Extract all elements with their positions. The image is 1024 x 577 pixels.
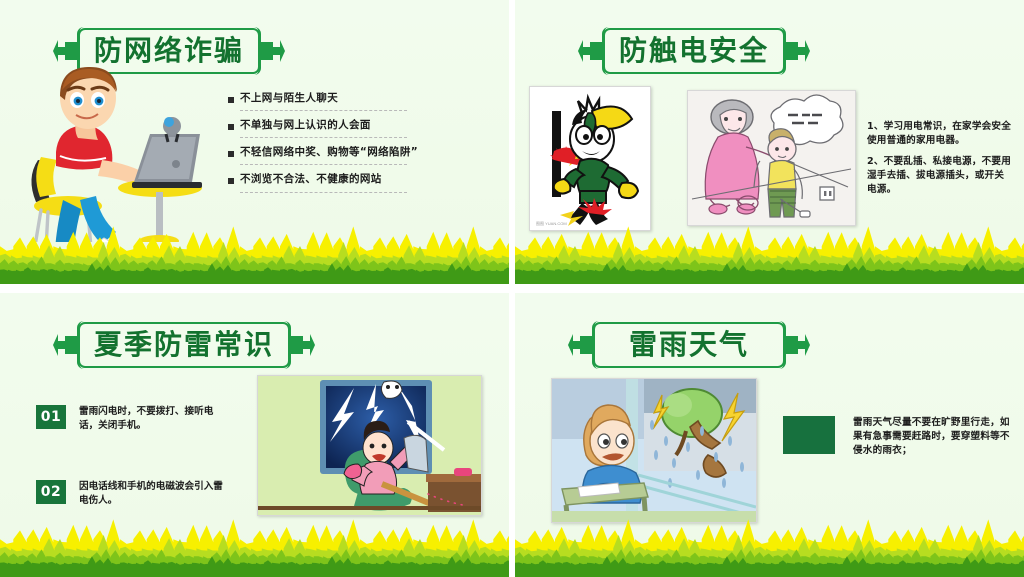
grass-layer-dark bbox=[0, 262, 509, 284]
list-item: 02 因电话线和手机的电磁波会引入雷电伤人。 bbox=[36, 480, 226, 508]
row-gap bbox=[0, 284, 1024, 293]
tip-text: 雷雨闪电时，不要拨打、接听电话，关闭手机。 bbox=[79, 405, 226, 433]
ribbon-right-cap-icon bbox=[290, 330, 316, 360]
list-item: 不单独与网上认识的人会面 bbox=[228, 119, 418, 138]
slide-deck: 防网络诈骗 bbox=[0, 0, 1024, 577]
slide-summer-lightning[interactable]: 夏季防雷常识 01 雷雨闪电时，不要拨打、接听电话，关闭手机。 02 因电话线和… bbox=[0, 293, 509, 577]
slide-title-ribbon: 夏季防雷常识 bbox=[52, 322, 316, 368]
slide-electric-safety[interactable]: 防触电安全 bbox=[515, 0, 1024, 284]
note-paragraph: 雷雨天气尽量不要在旷野里行走，如果有急事需要赶路时，要穿塑料等不侵水的雨衣； bbox=[853, 416, 1015, 458]
bullet-text: 不单独与网上认识的人会面 bbox=[240, 119, 371, 132]
ribbon-left-cap-icon bbox=[577, 36, 603, 66]
tip-number-badge: 01 bbox=[36, 405, 66, 429]
list-item: 不浏览不合法、不健康的网站 bbox=[228, 173, 418, 192]
boy-at-laptop-illustration bbox=[8, 60, 213, 242]
square-bullet-icon bbox=[228, 97, 234, 103]
grass-decoration bbox=[0, 519, 509, 577]
title-plaque: 雷雨天气 bbox=[593, 322, 785, 368]
grass-layer-dark bbox=[515, 262, 1024, 284]
bullet-text: 不轻信网络中奖、购物等“网络陷阱” bbox=[240, 146, 418, 159]
ribbon-right-cap-icon bbox=[785, 36, 811, 66]
boy-on-phone-lightning-cartoon[interactable] bbox=[257, 375, 482, 516]
square-bullet-icon bbox=[228, 178, 234, 184]
numbered-tip-list: 01 雷雨闪电时，不要拨打、接听电话，关闭手机。 02 因电话线和手机的电磁波会… bbox=[36, 405, 226, 508]
list-item: 不轻信网络中奖、购物等“网络陷阱” bbox=[228, 146, 418, 165]
slide-title-ribbon: 雷雨天气 bbox=[567, 322, 811, 368]
slide-thunderstorm[interactable]: 雷雨天气 bbox=[515, 293, 1024, 577]
slide-title: 雷雨天气 bbox=[629, 331, 749, 359]
square-bullet-icon bbox=[228, 151, 234, 157]
list-item: 01 雷雨闪电时，不要拨打、接听电话，关闭手机。 bbox=[36, 405, 226, 433]
ribbon-right-cap-icon bbox=[785, 330, 811, 360]
grass-decoration bbox=[0, 226, 509, 284]
ribbon-left-cap-icon bbox=[567, 330, 593, 360]
grandma-warning-child-cartoon[interactable] bbox=[687, 90, 856, 226]
tip-text: 因电话线和手机的电磁波会引入雷电伤人。 bbox=[79, 480, 226, 508]
slide-title-ribbon: 防触电安全 bbox=[577, 28, 811, 74]
boy-at-window-storm-cartoon[interactable] bbox=[551, 378, 757, 523]
dashed-divider bbox=[240, 137, 407, 138]
square-bullet-icon bbox=[228, 124, 234, 130]
slide-anti-fraud[interactable]: 防网络诈骗 bbox=[0, 0, 509, 284]
slide-title: 防触电安全 bbox=[619, 37, 769, 65]
grass-decoration bbox=[515, 226, 1024, 284]
bullet-list: 不上网与陌生人聊天 不单独与网上认识的人会面 不轻信网络中奖、购物等“网络陷阱” bbox=[228, 92, 418, 201]
list-item: 不上网与陌生人聊天 bbox=[228, 92, 418, 111]
dashed-divider bbox=[240, 110, 407, 111]
dashed-divider bbox=[240, 164, 407, 165]
note-paragraph: 1、学习用电常识，在家学会安全使用普通的家用电器。 bbox=[867, 120, 1013, 148]
ribbon-left-cap-icon bbox=[52, 330, 78, 360]
title-plaque: 防触电安全 bbox=[603, 28, 785, 74]
dashed-divider bbox=[240, 192, 407, 193]
storm-note-row: 雷雨天气尽量不要在旷野里行走，如果有急事需要赶路时，要穿塑料等不侵水的雨衣； bbox=[783, 416, 1015, 458]
green-accent-block bbox=[783, 416, 835, 454]
bullet-text: 不浏览不合法、不健康的网站 bbox=[240, 173, 382, 186]
note-paragraph: 2、不要乱插、私接电源，不要用湿手去插、拔电源插头，或开关电源。 bbox=[867, 155, 1013, 197]
slide-title: 夏季防雷常识 bbox=[94, 331, 274, 359]
safety-notes: 1、学习用电常识，在家学会安全使用普通的家用电器。 2、不要乱插、私接电源，不要… bbox=[867, 120, 1013, 197]
grass-layer-dark bbox=[515, 555, 1024, 577]
ribbon-right-cap-icon bbox=[260, 36, 286, 66]
grass-layer-dark bbox=[0, 555, 509, 577]
bullet-text: 不上网与陌生人聊天 bbox=[240, 92, 338, 105]
child-electric-shock-cartoon[interactable]: 图图 YUAN.COM bbox=[529, 86, 651, 231]
tip-number-badge: 02 bbox=[36, 480, 66, 504]
grass-decoration bbox=[515, 519, 1024, 577]
title-plaque: 夏季防雷常识 bbox=[78, 322, 290, 368]
